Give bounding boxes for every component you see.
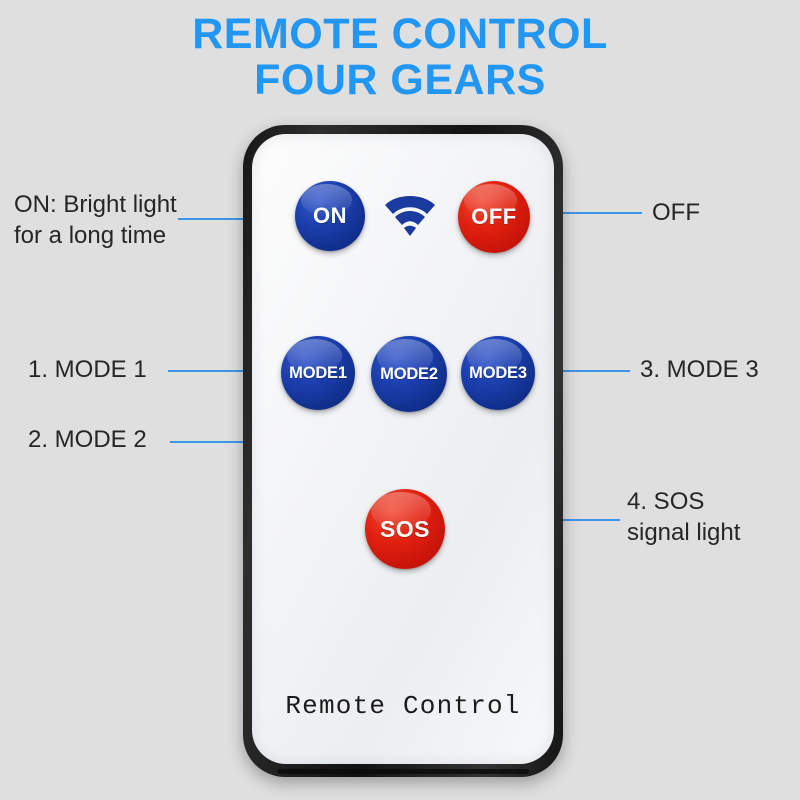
remote-brand-text: Remote Control — [252, 691, 554, 721]
remote-control-device: ON OFF MODE1 MODE2 MODE3 — [243, 125, 563, 777]
wifi-signal-icon — [381, 188, 439, 240]
off-button[interactable]: OFF — [458, 181, 530, 253]
on-button[interactable]: ON — [295, 181, 365, 251]
sos-button-label: SOS — [380, 516, 430, 543]
off-button-label: OFF — [471, 204, 517, 230]
infographic-canvas: REMOTE CONTROL FOUR GEARS ON OFF — [0, 0, 800, 800]
callout-off: OFF — [652, 198, 700, 229]
remote-face-panel: ON OFF MODE1 MODE2 MODE3 — [252, 134, 554, 764]
title-line-2: FOUR GEARS — [0, 58, 800, 104]
mode3-button[interactable]: MODE3 — [461, 336, 535, 410]
callout-sos: 4. SOS signal light — [627, 487, 740, 548]
title-line-1: REMOTE CONTROL — [0, 12, 800, 58]
callout-mode3: 3. MODE 3 — [640, 355, 759, 386]
callout-mode1: 1. MODE 1 — [28, 355, 147, 386]
mode2-button[interactable]: MODE2 — [371, 336, 447, 412]
on-button-label: ON — [313, 203, 347, 229]
remote-bottom-lip — [277, 769, 529, 774]
callout-mode2: 2. MODE 2 — [28, 425, 147, 456]
sos-button[interactable]: SOS — [365, 489, 445, 569]
mode3-button-label: MODE3 — [469, 364, 527, 383]
mode1-button[interactable]: MODE1 — [281, 336, 355, 410]
mode2-button-label: MODE2 — [380, 365, 438, 384]
mode1-button-label: MODE1 — [289, 364, 347, 383]
callout-on: ON: Bright light for a long time — [14, 190, 229, 251]
page-title: REMOTE CONTROL FOUR GEARS — [0, 12, 800, 103]
